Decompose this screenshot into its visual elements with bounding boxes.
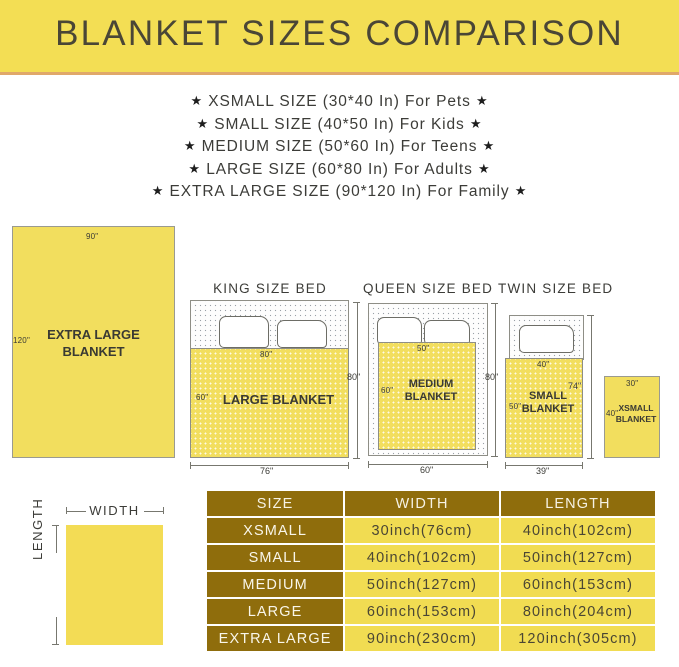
king-bed-length-dim: 80" bbox=[347, 372, 360, 382]
column-header-length: LENGTH bbox=[501, 491, 655, 516]
twin-width-tick-right bbox=[582, 462, 583, 469]
king-width-tick-left bbox=[190, 462, 191, 469]
cell-size: SMALL bbox=[207, 545, 343, 570]
small-blanket-width-dim: 40" bbox=[537, 360, 549, 369]
key-width-tick-right bbox=[163, 507, 164, 514]
large-blanket-width-dim: 80" bbox=[260, 350, 272, 359]
medium-blanket-label: MEDIUM BLANKET bbox=[386, 378, 476, 404]
cell-length: 40inch(102cm) bbox=[501, 518, 655, 543]
cell-width: 60inch(153cm) bbox=[345, 599, 499, 624]
key-length-dim-line-bottom bbox=[56, 617, 57, 645]
key-width-dim-line-right bbox=[144, 511, 164, 512]
column-header-width: WIDTH bbox=[345, 491, 499, 516]
cell-width: 90inch(230cm) bbox=[345, 626, 499, 651]
medium-blanket-width-dim: 50" bbox=[417, 344, 429, 353]
king-length-tick-top bbox=[353, 302, 360, 303]
large-blanket-label: LARGE BLANKET bbox=[206, 392, 351, 407]
cell-width: 30inch(76cm) bbox=[345, 518, 499, 543]
king-pillow-left bbox=[219, 316, 269, 348]
small-blanket-label: SMALL BLANKET bbox=[512, 390, 584, 416]
twin-pillow bbox=[519, 325, 574, 353]
table-row: MEDIUM 50inch(127cm) 60inch(153cm) bbox=[207, 572, 655, 597]
key-length-tick-bottom bbox=[52, 644, 59, 645]
twin-bed-width-dim: 39" bbox=[536, 466, 549, 476]
cell-length: 80inch(204cm) bbox=[501, 599, 655, 624]
king-length-tick-bottom bbox=[353, 458, 360, 459]
size-table: SIZE WIDTH LENGTH XSMALL 30inch(76cm) 40… bbox=[205, 489, 657, 653]
queen-bed-width-dim: 60" bbox=[420, 465, 433, 475]
cell-size: MEDIUM bbox=[207, 572, 343, 597]
table-row: EXTRA LARGE 90inch(230cm) 120inch(305cm) bbox=[207, 626, 655, 651]
extra-large-blanket-label: EXTRA LARGE BLANKET bbox=[12, 326, 175, 360]
cell-length: 120inch(305cm) bbox=[501, 626, 655, 651]
queen-length-tick-top bbox=[491, 303, 498, 304]
key-length-tick-top bbox=[52, 525, 59, 526]
queen-width-tick-left bbox=[368, 461, 369, 468]
cell-length: 60inch(153cm) bbox=[501, 572, 655, 597]
cell-size: XSMALL bbox=[207, 518, 343, 543]
twin-width-tick-left bbox=[505, 462, 506, 469]
xsmall-blanket-label: XSMALL BLANKET bbox=[612, 403, 660, 424]
cell-size: LARGE bbox=[207, 599, 343, 624]
king-pillow-right bbox=[277, 320, 327, 348]
key-width-tick-left bbox=[66, 507, 67, 514]
king-bed-title: KING SIZE BED bbox=[190, 281, 350, 296]
queen-bed-title: QUEEN SIZE BED bbox=[363, 281, 493, 296]
column-header-size: SIZE bbox=[207, 491, 343, 516]
key-length-dim-line bbox=[56, 525, 57, 553]
queen-length-tick-bottom bbox=[491, 456, 498, 457]
king-width-tick-right bbox=[348, 462, 349, 469]
queen-pillow-left bbox=[377, 317, 422, 345]
cell-length: 50inch(127cm) bbox=[501, 545, 655, 570]
dimension-key-shape bbox=[66, 525, 163, 645]
queen-bed-length-dim: 80" bbox=[485, 372, 498, 382]
twin-length-tick-top bbox=[587, 315, 594, 316]
twin-length-tick-bottom bbox=[587, 458, 594, 459]
twin-bed-title: TWIN SIZE BED bbox=[498, 281, 610, 296]
table-row: XSMALL 30inch(76cm) 40inch(102cm) bbox=[207, 518, 655, 543]
cell-width: 40inch(102cm) bbox=[345, 545, 499, 570]
king-bed-width-dim: 76" bbox=[260, 466, 273, 476]
key-width-dim-line bbox=[66, 511, 86, 512]
twin-length-dim-line bbox=[591, 315, 592, 458]
table-header-row: SIZE WIDTH LENGTH bbox=[207, 491, 655, 516]
table-row: LARGE 60inch(153cm) 80inch(204cm) bbox=[207, 599, 655, 624]
twin-bed-length-dim: 74" bbox=[568, 381, 581, 391]
cell-size: EXTRA LARGE bbox=[207, 626, 343, 651]
dimension-key-length-label: LENGTH bbox=[30, 498, 45, 560]
queen-width-tick-right bbox=[487, 461, 488, 468]
xsmall-blanket-width-dim: 30" bbox=[626, 379, 638, 388]
extra-large-width-dim: 90" bbox=[86, 232, 98, 241]
cell-width: 50inch(127cm) bbox=[345, 572, 499, 597]
table-row: SMALL 40inch(102cm) 50inch(127cm) bbox=[207, 545, 655, 570]
